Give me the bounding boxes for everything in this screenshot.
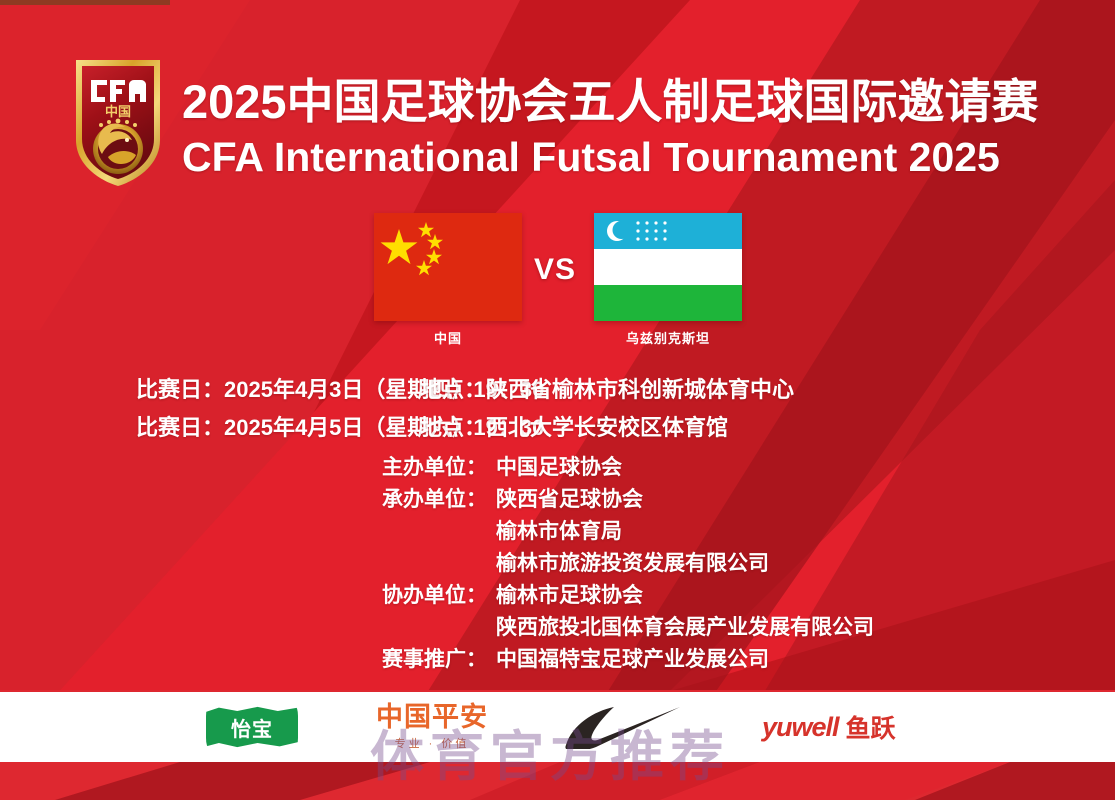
yibao-label: 怡宝 <box>231 713 273 742</box>
poster-header: 中国 2025中国足球协会五人制足球国际邀请赛 CFA Internationa… <box>0 0 1115 200</box>
organizer-block: 主办单位： 中国足球协会 承办单位： 陕西省足球协会 榆林市体育局 榆林市旅游投… <box>0 452 1115 676</box>
organizer-value: 榆林市旅游投资发展有限公司 <box>496 548 769 580</box>
organizer-label <box>0 548 496 580</box>
yuwell-label-cn: 鱼跃 <box>846 709 896 745</box>
cfa-crest-logo: 中国 <box>72 56 164 190</box>
pingan-label: 中国平安 <box>376 703 488 732</box>
match-venue: 地点：西北大学长安校区体育馆 <box>420 410 728 446</box>
sponsor-yuwell: yuwell 鱼跃 <box>762 709 896 745</box>
registered-mark: ® <box>298 708 304 717</box>
cfa-shield-icon: 中国 <box>72 56 164 190</box>
sponsor-nike <box>562 705 682 749</box>
schedule-row: 比赛日：2025年4月5日（星期六）19：30 地点：西北大学长安校区体育馆 <box>0 410 1115 446</box>
yuwell-label-en: yuwell <box>762 712 839 743</box>
organizer-label <box>0 516 496 548</box>
organizer-row: 赛事推广： 中国福特宝足球产业发展公司 <box>0 644 1115 676</box>
uzbekistan-crescent-stars-icon <box>594 213 742 249</box>
organizer-label: 承办单位： <box>0 484 496 516</box>
china-flag-stars-icon <box>374 213 522 321</box>
page-title-en: CFA International Futsal Tournament 2025 <box>182 134 1062 180</box>
home-team-block: 中国 <box>374 213 522 347</box>
sponsor-pingan: 中国平安 专业 · 价值 <box>376 703 488 751</box>
nike-swoosh-icon <box>562 705 682 749</box>
page-title-cn: 2025中国足球协会五人制足球国际邀请赛 <box>182 76 1062 128</box>
organizer-row: 协办单位： 榆林市足球协会 <box>0 580 1115 612</box>
away-team-block: 乌兹别克斯坦 <box>594 213 742 347</box>
match-date: 比赛日：2025年4月3日（星期四）19：30 <box>0 372 420 408</box>
svg-text:中国: 中国 <box>105 104 131 120</box>
match-venue: 地点：陕西省榆林市科创新城体育中心 <box>420 372 794 408</box>
yibao-wave-logo-icon: 怡宝 ® <box>206 706 298 748</box>
organizer-row: 陕西旅投北国体育会展产业发展有限公司 <box>0 612 1115 644</box>
organizer-label: 赛事推广： <box>0 644 496 676</box>
away-team-name: 乌兹别克斯坦 <box>594 328 742 347</box>
organizer-label <box>0 612 496 644</box>
organizer-row: 榆林市旅游投资发展有限公司 <box>0 548 1115 580</box>
china-flag <box>374 213 522 321</box>
vs-label: VS <box>524 253 586 287</box>
organizer-value: 中国足球协会 <box>496 452 622 484</box>
organizer-value: 陕西旅投北国体育会展产业发展有限公司 <box>496 612 874 644</box>
sponsor-bar: 怡宝 ® 中国平安 专业 · 价值 yuwell 鱼跃 <box>0 692 1115 762</box>
organizer-value: 中国福特宝足球产业发展公司 <box>496 644 769 676</box>
organizer-row: 承办单位： 陕西省足球协会 <box>0 484 1115 516</box>
poster-canvas: 中国 2025中国足球协会五人制足球国际邀请赛 CFA Internationa… <box>0 0 1115 800</box>
sponsor-yibao: 怡宝 ® <box>206 706 298 748</box>
schedule-block: 比赛日：2025年4月3日（星期四）19：30 地点：陕西省榆林市科创新城体育中… <box>0 372 1115 448</box>
organizer-label: 协办单位： <box>0 580 496 612</box>
organizer-value: 陕西省足球协会 <box>496 484 643 516</box>
organizer-value: 榆林市足球协会 <box>496 580 643 612</box>
title-block: 2025中国足球协会五人制足球国际邀请赛 CFA International F… <box>182 76 1062 180</box>
organizer-row: 榆林市体育局 <box>0 516 1115 548</box>
pingan-tagline: 专业 · 价值 <box>376 735 488 751</box>
home-team-name: 中国 <box>374 328 522 347</box>
schedule-row: 比赛日：2025年4月3日（星期四）19：30 地点：陕西省榆林市科创新城体育中… <box>0 372 1115 408</box>
uzbekistan-flag <box>594 213 742 321</box>
organizer-row: 主办单位： 中国足球协会 <box>0 452 1115 484</box>
organizer-value: 榆林市体育局 <box>496 516 622 548</box>
organizer-label: 主办单位： <box>0 452 496 484</box>
match-date: 比赛日：2025年4月5日（星期六）19：30 <box>0 410 420 446</box>
match-banner: 中国 VS <box>0 205 1115 340</box>
